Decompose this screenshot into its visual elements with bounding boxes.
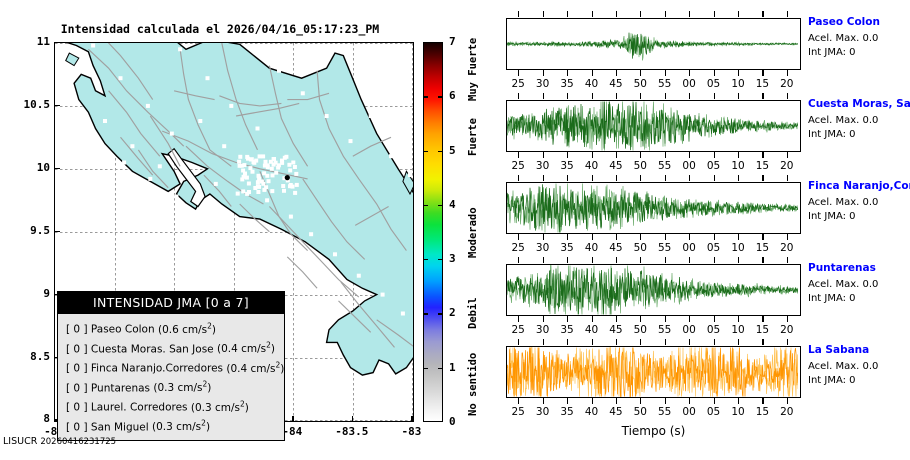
seismogram-x-tick-label: 20 bbox=[775, 242, 799, 254]
tick-mark bbox=[665, 175, 666, 181]
seismogram-info: Paseo ColonAcel. Max. 0.0Int JMA: 0 bbox=[808, 16, 910, 58]
map-y-tick-label: 8.5 bbox=[30, 350, 50, 363]
tick-mark bbox=[616, 234, 617, 240]
legend-station-accel: (0.6 cm/s2) bbox=[155, 324, 216, 336]
tick-mark bbox=[689, 152, 690, 158]
seismogram-x-tick-label: 45 bbox=[604, 406, 628, 418]
tick-mark bbox=[738, 11, 739, 17]
tick-mark bbox=[762, 152, 763, 158]
city-marker bbox=[148, 177, 152, 181]
colorbar-tick-label: 7 bbox=[449, 35, 456, 48]
footer: LISUCR 20260416231725 bbox=[3, 436, 116, 447]
station-jma-intensity: Int JMA: 0 bbox=[808, 47, 910, 58]
tick-mark bbox=[714, 234, 715, 240]
seismogram-x-tick-label: 25 bbox=[506, 78, 530, 90]
city-marker bbox=[277, 69, 281, 73]
map-panel: Intensidad calculada el 2026/04/16_05:17… bbox=[0, 0, 470, 460]
city-marker bbox=[245, 176, 249, 180]
colorbar-tick-label: 1 bbox=[449, 361, 456, 374]
seismogram-x-tick-label: 00 bbox=[677, 406, 701, 418]
colorbar-tick-label: 2 bbox=[449, 306, 456, 319]
city-marker bbox=[222, 144, 226, 148]
legend-station-name: San Miguel bbox=[88, 421, 149, 433]
tick-mark bbox=[592, 175, 593, 181]
seismogram-x-tick-label: 35 bbox=[555, 242, 579, 254]
tick-mark bbox=[543, 316, 544, 322]
tick-mark bbox=[762, 70, 763, 76]
colorbar-tick-label: 5 bbox=[449, 144, 456, 157]
tick-mark bbox=[518, 152, 519, 158]
tick-mark bbox=[640, 316, 641, 322]
seismogram-x-tick-label: 15 bbox=[750, 324, 774, 336]
city-marker bbox=[248, 166, 252, 170]
station-jma-intensity: Int JMA: 0 bbox=[808, 129, 910, 140]
seismogram-x-tick-label: 50 bbox=[628, 78, 652, 90]
map-y-tick-mark bbox=[54, 231, 60, 232]
tick-mark bbox=[543, 175, 544, 181]
legend-station-accel: (0.4 cm/s2) bbox=[223, 363, 284, 375]
city-marker bbox=[242, 163, 246, 167]
road-line bbox=[287, 257, 317, 288]
waveform-primary bbox=[507, 184, 798, 232]
map-x-tick-mark bbox=[292, 416, 293, 422]
city-marker bbox=[247, 190, 251, 194]
tick-mark bbox=[616, 339, 617, 345]
tick-mark bbox=[714, 175, 715, 181]
waveform-primary bbox=[507, 33, 798, 59]
seismogram-x-tick-label: 50 bbox=[628, 242, 652, 254]
seismogram-x-tick-label: 55 bbox=[653, 406, 677, 418]
seismogram-x-tick-label: 05 bbox=[702, 78, 726, 90]
seismogram-bottom-ticks bbox=[506, 398, 801, 404]
colorbar-tick-mark bbox=[423, 151, 428, 152]
tick-mark bbox=[592, 152, 593, 158]
map-y-tick-label: 9 bbox=[43, 287, 50, 300]
seismogram-trace-1[interactable] bbox=[506, 18, 801, 70]
city-marker bbox=[158, 164, 162, 168]
tick-mark bbox=[543, 234, 544, 240]
seismogram-trace-4[interactable] bbox=[506, 264, 801, 316]
tick-mark bbox=[665, 316, 666, 322]
city-marker bbox=[178, 47, 182, 51]
station-name[interactable]: Cuesta Moras, San Jose bbox=[808, 98, 910, 110]
city-marker bbox=[257, 185, 261, 189]
tick-mark bbox=[567, 398, 568, 404]
seismogram-x-tick-label: 25 bbox=[506, 406, 530, 418]
station-max-acceleration: Acel. Max. 0.0 bbox=[808, 279, 910, 290]
tick-mark bbox=[689, 398, 690, 404]
colorbar-tick-mark bbox=[423, 96, 428, 97]
city-marker bbox=[389, 154, 393, 158]
tick-mark bbox=[592, 70, 593, 76]
seismogram-x-tick-label: 20 bbox=[775, 160, 799, 172]
city-marker bbox=[267, 179, 271, 183]
tick-mark bbox=[543, 152, 544, 158]
tick-mark bbox=[689, 316, 690, 322]
tick-mark bbox=[689, 257, 690, 263]
tick-mark bbox=[714, 339, 715, 345]
seismogram-x-tick-label: 30 bbox=[531, 242, 555, 254]
colorbar-tick-mark bbox=[423, 205, 428, 206]
legend-station-accel: (0.3 cm/s2) bbox=[150, 382, 211, 394]
island bbox=[66, 53, 79, 66]
city-marker bbox=[287, 163, 291, 167]
seismogram-x-tick-label: 55 bbox=[653, 160, 677, 172]
tick-mark bbox=[787, 339, 788, 345]
tick-mark bbox=[640, 339, 641, 345]
colorbar-tick-mark bbox=[438, 313, 443, 314]
city-marker bbox=[293, 165, 297, 169]
tick-mark bbox=[592, 316, 593, 322]
city-marker bbox=[256, 190, 260, 194]
tick-mark bbox=[640, 152, 641, 158]
tick-mark bbox=[567, 234, 568, 240]
tick-mark bbox=[640, 11, 641, 17]
colorbar-tick-label: 3 bbox=[449, 252, 456, 265]
tick-mark bbox=[714, 152, 715, 158]
seismogram-x-tick-label: 20 bbox=[775, 78, 799, 90]
station-max-acceleration: Acel. Max. 0.0 bbox=[808, 197, 910, 208]
seismogram-x-tick-label: 30 bbox=[531, 78, 555, 90]
tick-mark bbox=[787, 152, 788, 158]
city-marker bbox=[282, 189, 286, 193]
seismogram-x-tick-label: 30 bbox=[531, 160, 555, 172]
seismogram-x-tick-label: 05 bbox=[702, 242, 726, 254]
legend-station-row: [ 0 ] Laurel. Corredores (0.3 cm/s2) bbox=[66, 396, 284, 416]
legend-station-row: [ 0 ] Paseo Colon (0.6 cm/s2) bbox=[66, 318, 284, 338]
map-y-tick-mark bbox=[54, 42, 60, 43]
legend-intensity-value: [ 0 ] bbox=[66, 402, 88, 414]
seismogram-x-tick-label: 10 bbox=[726, 242, 750, 254]
tick-mark bbox=[567, 11, 568, 17]
legend-station-name: Paseo Colon bbox=[88, 324, 155, 336]
station-name[interactable]: Finca Naranjo,Corredores bbox=[808, 180, 910, 192]
colorbar-tick-mark bbox=[438, 259, 443, 260]
seismogram-top-ticks bbox=[506, 93, 801, 99]
seismogram-bottom-ticks bbox=[506, 316, 801, 322]
seismogram-x-tick-label: 00 bbox=[677, 242, 701, 254]
station-max-acceleration: Acel. Max. 0.0 bbox=[808, 115, 910, 126]
seismogram-x-tick-label: 15 bbox=[750, 406, 774, 418]
seismogram-trace-5[interactable] bbox=[506, 346, 801, 398]
city-marker bbox=[247, 182, 251, 186]
city-marker bbox=[270, 167, 274, 171]
tick-mark bbox=[640, 175, 641, 181]
seismogram-x-tick-label: 45 bbox=[604, 242, 628, 254]
tick-mark bbox=[689, 175, 690, 181]
city-marker bbox=[170, 132, 174, 136]
station-name[interactable]: La Sabana bbox=[808, 344, 910, 356]
colorbar-gradient bbox=[423, 42, 443, 422]
tick-mark bbox=[543, 11, 544, 17]
seismogram-x-tick-label: 35 bbox=[555, 160, 579, 172]
city-marker bbox=[103, 119, 107, 123]
city-marker bbox=[294, 172, 298, 176]
tick-mark bbox=[689, 234, 690, 240]
city-marker bbox=[349, 139, 353, 143]
legend-intensity-value: [ 0 ] bbox=[66, 343, 88, 355]
city-marker bbox=[408, 173, 412, 177]
legend-intensity-value: [ 0 ] bbox=[66, 324, 88, 336]
seismogram-x-tick-label: 00 bbox=[677, 324, 701, 336]
tick-mark bbox=[567, 70, 568, 76]
city-marker bbox=[245, 155, 249, 159]
map-y-tick-label: 9.5 bbox=[30, 224, 50, 237]
seismogram-x-tick-label: 05 bbox=[702, 406, 726, 418]
legend-station-name: Cuesta Moras. San Jose bbox=[88, 343, 214, 355]
tick-mark bbox=[640, 257, 641, 263]
colorbar-tick-label: 6 bbox=[449, 89, 456, 102]
tick-mark bbox=[640, 234, 641, 240]
seismogram-x-tick-label: 30 bbox=[531, 406, 555, 418]
seismogram-bottom-ticks bbox=[506, 70, 801, 76]
station-name[interactable]: Paseo Colon bbox=[808, 16, 910, 28]
seismogram-x-tick-label: 35 bbox=[555, 406, 579, 418]
seismogram-x-tick-label: 00 bbox=[677, 160, 701, 172]
colorbar-tick-label: 4 bbox=[449, 198, 456, 211]
seismogram-trace-2[interactable] bbox=[506, 100, 801, 152]
tick-mark bbox=[762, 234, 763, 240]
seismogram-info: PuntarenasAcel. Max. 0.0Int JMA: 0 bbox=[808, 262, 910, 304]
seismogram-x-tick-label: 45 bbox=[604, 78, 628, 90]
tick-mark bbox=[689, 93, 690, 99]
seismogram-x-tick-label: 10 bbox=[726, 324, 750, 336]
city-marker bbox=[288, 168, 292, 172]
tick-mark bbox=[738, 316, 739, 322]
tick-mark bbox=[787, 175, 788, 181]
colorbar-tick-mark bbox=[438, 151, 443, 152]
city-marker bbox=[265, 174, 269, 178]
intensity-legend: INTENSIDAD JMA [0 a 7] [ 0 ] Paseo Colon… bbox=[57, 291, 285, 441]
legend-title: INTENSIDAD JMA [0 a 7] bbox=[58, 292, 284, 314]
seismogram-x-tick-label: 45 bbox=[604, 160, 628, 172]
station-name[interactable]: Puntarenas bbox=[808, 262, 910, 274]
tick-mark bbox=[787, 11, 788, 17]
seismogram-x-tick-label: 45 bbox=[604, 324, 628, 336]
seismogram-x-tick-label: 25 bbox=[506, 160, 530, 172]
tick-mark bbox=[616, 257, 617, 263]
city-marker bbox=[119, 76, 123, 80]
tick-mark bbox=[567, 257, 568, 263]
epicenter-marker bbox=[285, 175, 290, 180]
time-axis-label: Tiempo (s) bbox=[506, 424, 801, 438]
footer-label: LISUCR bbox=[3, 436, 37, 447]
city-marker bbox=[91, 44, 95, 48]
legend-station-accel: (0.4 cm/s2) bbox=[214, 343, 275, 355]
tick-mark bbox=[762, 175, 763, 181]
tick-mark bbox=[640, 70, 641, 76]
tick-mark bbox=[567, 152, 568, 158]
tick-mark bbox=[518, 175, 519, 181]
tick-mark bbox=[689, 11, 690, 17]
map-x-tick-label: -83.5 bbox=[329, 425, 375, 438]
city-marker bbox=[146, 104, 150, 108]
map-y-tick-label: 11 bbox=[37, 35, 50, 48]
tick-mark bbox=[616, 11, 617, 17]
tick-mark bbox=[616, 175, 617, 181]
footer-timestamp: 20260416231725 bbox=[40, 437, 116, 447]
city-marker bbox=[252, 160, 256, 164]
city-marker bbox=[175, 195, 179, 199]
tick-mark bbox=[665, 339, 666, 345]
tick-mark bbox=[665, 257, 666, 263]
seismogram-info: La SabanaAcel. Max. 0.0Int JMA: 0 bbox=[808, 344, 910, 386]
legend-station-row: [ 0 ] Puntarenas (0.3 cm/s2) bbox=[66, 377, 284, 397]
legend-station-name: Puntarenas bbox=[88, 382, 150, 394]
tick-mark bbox=[762, 339, 763, 345]
tick-mark bbox=[665, 234, 666, 240]
tick-mark bbox=[738, 152, 739, 158]
seismogram-x-tick-label: 40 bbox=[580, 78, 604, 90]
seismogram-bottom-ticks bbox=[506, 152, 801, 158]
seismogram-top-ticks bbox=[506, 257, 801, 263]
seismogram-x-tick-label: 25 bbox=[506, 242, 530, 254]
city-marker bbox=[264, 160, 268, 164]
legend-station-name: Finca Naranjo.Corredores bbox=[88, 363, 223, 375]
tick-mark bbox=[518, 93, 519, 99]
seismogram-trace-3[interactable] bbox=[506, 182, 801, 234]
tick-mark bbox=[787, 234, 788, 240]
city-marker bbox=[274, 161, 278, 165]
tick-mark bbox=[714, 398, 715, 404]
city-marker bbox=[186, 173, 190, 177]
seismogram-x-tick-label: 10 bbox=[726, 160, 750, 172]
seismogram-x-tick-label: 25 bbox=[506, 324, 530, 336]
tick-mark bbox=[592, 11, 593, 17]
city-marker bbox=[274, 171, 278, 175]
tick-mark bbox=[543, 257, 544, 263]
seismogram-x-labels: 253035404550550005101520 bbox=[506, 78, 801, 92]
seismogram-x-tick-label: 10 bbox=[726, 406, 750, 418]
tick-mark bbox=[738, 234, 739, 240]
tick-mark bbox=[762, 93, 763, 99]
city-marker bbox=[258, 154, 262, 158]
tick-mark bbox=[543, 93, 544, 99]
seismogram-x-labels: 253035404550550005101520 bbox=[506, 406, 801, 420]
tick-mark bbox=[738, 70, 739, 76]
tick-mark bbox=[714, 257, 715, 263]
seismogram-x-tick-label: 40 bbox=[580, 324, 604, 336]
seismogram-x-tick-label: 55 bbox=[653, 78, 677, 90]
station-jma-intensity: Int JMA: 0 bbox=[808, 211, 910, 222]
city-marker bbox=[241, 189, 245, 193]
city-marker bbox=[401, 312, 405, 316]
colorbar-tick-mark bbox=[438, 205, 443, 206]
city-marker bbox=[280, 161, 284, 165]
tick-mark bbox=[640, 93, 641, 99]
tick-mark bbox=[518, 398, 519, 404]
city-marker bbox=[289, 183, 293, 187]
seismogram-x-tick-label: 40 bbox=[580, 242, 604, 254]
tick-mark bbox=[543, 70, 544, 76]
station-max-acceleration: Acel. Max. 0.0 bbox=[808, 361, 910, 372]
city-marker bbox=[289, 215, 293, 219]
city-marker bbox=[240, 177, 244, 181]
tick-mark bbox=[518, 257, 519, 263]
seismogram-x-tick-label: 30 bbox=[531, 324, 555, 336]
seismogram-top-ticks bbox=[506, 11, 801, 17]
colorbar-tick-mark bbox=[423, 313, 428, 314]
tick-mark bbox=[787, 398, 788, 404]
seismogram-x-tick-label: 50 bbox=[628, 324, 652, 336]
tick-mark bbox=[762, 11, 763, 17]
city-marker bbox=[271, 173, 275, 177]
map-y-tick-label: 8 bbox=[43, 412, 50, 425]
seismogram-x-tick-label: 10 bbox=[726, 78, 750, 90]
city-marker bbox=[325, 114, 329, 118]
tick-mark bbox=[543, 398, 544, 404]
city-marker bbox=[276, 166, 280, 170]
seismogram-info: Cuesta Moras, San JoseAcel. Max. 0.0Int … bbox=[808, 98, 910, 140]
seismogram-x-tick-label: 15 bbox=[750, 160, 774, 172]
colorbar-tick-mark bbox=[438, 368, 443, 369]
tick-mark bbox=[518, 316, 519, 322]
map-title: Intensidad calculada el 2026/04/16_05:17… bbox=[0, 22, 440, 36]
waveform-primary bbox=[507, 102, 798, 151]
colorbar-tick-mark bbox=[423, 368, 428, 369]
city-marker bbox=[238, 164, 242, 168]
city-marker bbox=[309, 232, 313, 236]
seismogram-x-tick-label: 00 bbox=[677, 78, 701, 90]
city-marker bbox=[333, 252, 337, 256]
tick-mark bbox=[762, 398, 763, 404]
city-marker bbox=[261, 154, 265, 158]
legend-station-name: Laurel. Corredores bbox=[88, 402, 188, 414]
tick-mark bbox=[567, 175, 568, 181]
city-marker bbox=[291, 161, 295, 165]
city-marker bbox=[381, 293, 385, 297]
city-marker bbox=[243, 172, 247, 176]
legend-station-list: [ 0 ] Paseo Colon (0.6 cm/s2)[ 0 ] Cuest… bbox=[58, 314, 284, 440]
tick-mark bbox=[665, 70, 666, 76]
tick-mark bbox=[616, 70, 617, 76]
map-y-tick-mark bbox=[54, 105, 60, 106]
seismogram-x-tick-label: 55 bbox=[653, 242, 677, 254]
station-jma-intensity: Int JMA: 0 bbox=[808, 375, 910, 386]
city-marker bbox=[130, 144, 134, 148]
legend-intensity-value: [ 0 ] bbox=[66, 363, 88, 375]
legend-station-row: [ 0 ] San Miguel (0.3 cm/s2) bbox=[66, 416, 284, 436]
legend-station-accel: (0.3 cm/s2) bbox=[188, 402, 249, 414]
tick-mark bbox=[616, 316, 617, 322]
city-marker bbox=[265, 198, 269, 202]
seismogram-top-ticks bbox=[506, 175, 801, 181]
tick-mark bbox=[787, 70, 788, 76]
city-marker bbox=[284, 155, 288, 159]
seismogram-x-labels: 253035404550550005101520 bbox=[506, 160, 801, 174]
tick-mark bbox=[518, 70, 519, 76]
tick-mark bbox=[592, 339, 593, 345]
tick-mark bbox=[714, 93, 715, 99]
tick-mark bbox=[592, 234, 593, 240]
tick-mark bbox=[787, 257, 788, 263]
tick-mark bbox=[714, 316, 715, 322]
tick-mark bbox=[762, 316, 763, 322]
map-y-tick-label: 10.5 bbox=[24, 98, 51, 111]
tick-mark bbox=[665, 398, 666, 404]
intensity-colorbar: 76543210Muy FuerteFuerteModeradoDebilNo … bbox=[423, 42, 443, 422]
seismogram-x-labels: 253035404550550005101520 bbox=[506, 242, 801, 256]
city-marker bbox=[237, 160, 241, 164]
colorbar-tick-label: 0 bbox=[449, 415, 456, 428]
station-jma-intensity: Int JMA: 0 bbox=[808, 293, 910, 304]
legend-station-row: [ 0 ] Finca Naranjo.Corredores (0.4 cm/s… bbox=[66, 357, 284, 377]
colorbar-tick-mark bbox=[438, 96, 443, 97]
tick-mark bbox=[592, 398, 593, 404]
tick-mark bbox=[738, 398, 739, 404]
city-marker bbox=[206, 76, 210, 80]
seismogram-x-tick-label: 35 bbox=[555, 78, 579, 90]
